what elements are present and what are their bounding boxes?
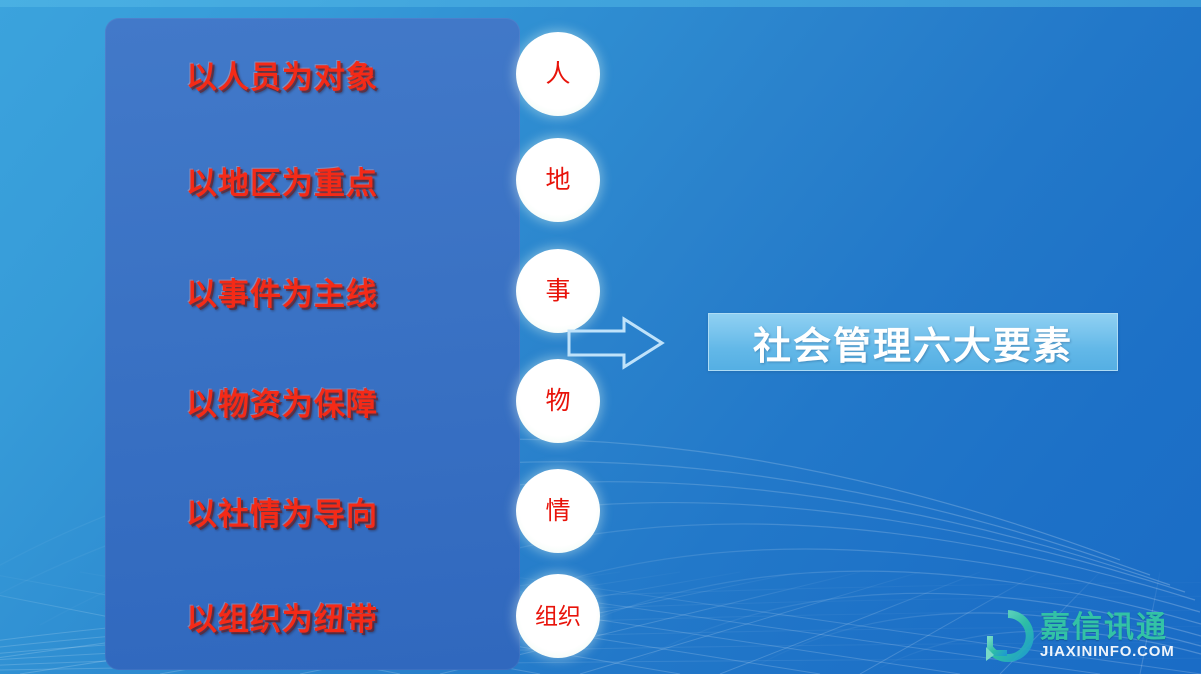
- list-item[interactable]: 以人员为对象 人: [105, 32, 520, 116]
- element-badge[interactable]: 组织: [516, 574, 600, 658]
- element-badge[interactable]: 地: [516, 138, 600, 222]
- element-label: 以人员为对象: [153, 52, 411, 97]
- watermark-text: 嘉信讯通 JIAXININFO.COM: [1040, 613, 1175, 660]
- element-label: 以事件为主线: [153, 269, 411, 314]
- list-item[interactable]: 以社情为导向 情: [105, 469, 520, 553]
- slide-canvas: 以人员为对象 人 以地区为重点 地 以事件为主线 事 以物资为保障: [0, 0, 1201, 674]
- list-item[interactable]: 以组织为纽带 组织: [105, 574, 520, 658]
- title-plate: 社会管理六大要素: [708, 313, 1118, 371]
- elements-panel: 以人员为对象 人 以地区为重点 地 以事件为主线 事 以物资为保障: [105, 18, 520, 670]
- list-item[interactable]: 以事件为主线 事: [105, 249, 520, 333]
- element-badge-label: 地: [545, 168, 570, 193]
- list-item[interactable]: 以地区为重点 地: [105, 138, 520, 222]
- element-badge-label: 组织: [535, 605, 581, 628]
- element-badge[interactable]: 人: [516, 32, 600, 116]
- element-label: 以地区为重点: [153, 158, 411, 203]
- element-badge-label: 事: [545, 279, 570, 304]
- element-label: 以社情为导向: [153, 489, 411, 534]
- element-badge[interactable]: 物: [516, 359, 600, 443]
- element-badge-label: 物: [545, 389, 570, 414]
- circular-swirl-logo-icon: [980, 609, 1036, 665]
- top-edge-strip: [0, 0, 1201, 7]
- elements-list: 以人员为对象 人 以地区为重点 地 以事件为主线 事 以物资为保障: [105, 18, 520, 670]
- watermark-company-en: JIAXININFO.COM: [1040, 644, 1175, 661]
- element-badge[interactable]: 情: [516, 469, 600, 553]
- watermark-company-cn: 嘉信讯通: [1040, 613, 1175, 644]
- element-badge-label: 人: [545, 62, 570, 87]
- page-title: 社会管理六大要素: [753, 315, 1073, 370]
- element-badge-label: 情: [545, 499, 570, 524]
- element-label: 以物资为保障: [153, 379, 411, 424]
- watermark: 嘉信讯通 JIAXININFO.COM: [980, 607, 1195, 667]
- right-arrow-outline-icon: [566, 315, 666, 371]
- element-label: 以组织为纽带: [153, 594, 411, 639]
- list-item[interactable]: 以物资为保障 物: [105, 359, 520, 443]
